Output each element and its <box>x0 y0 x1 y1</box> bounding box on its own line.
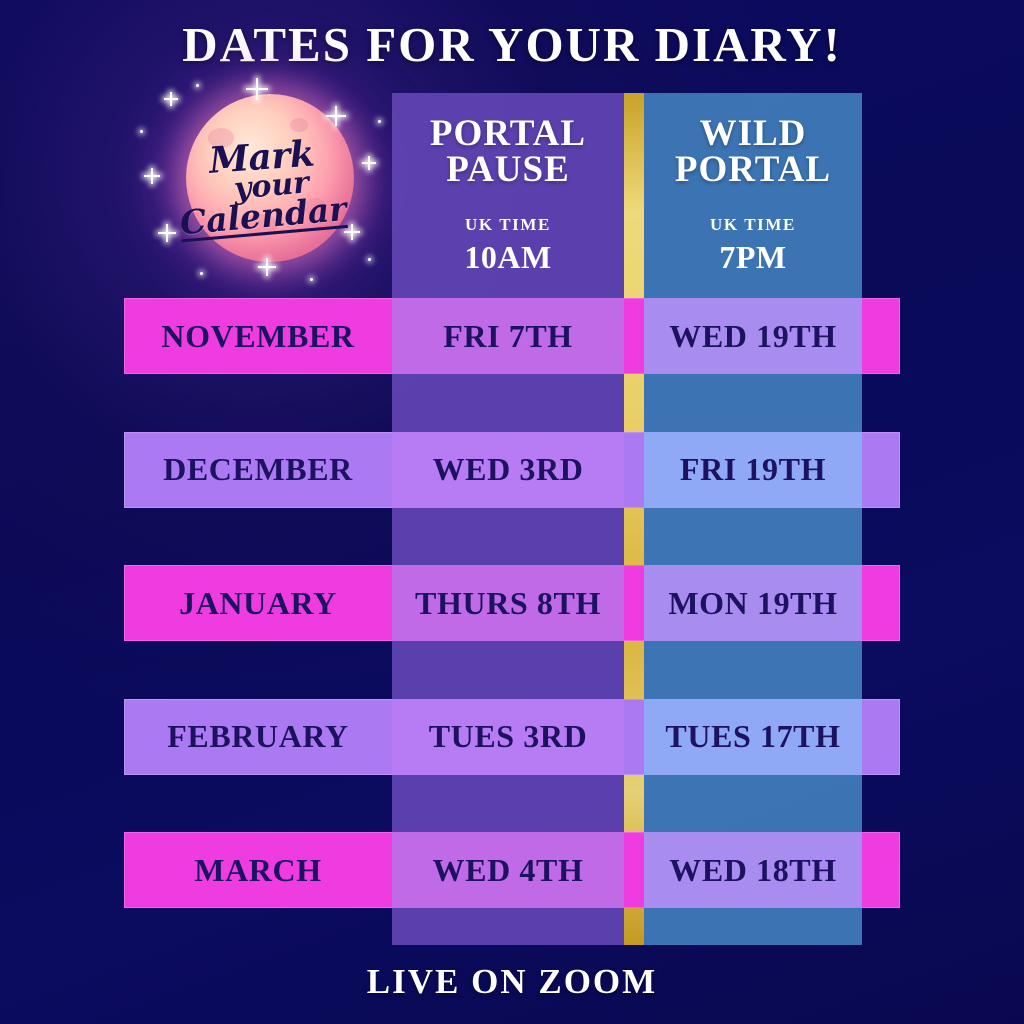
cell-month: FEBRUARY <box>124 699 392 775</box>
table-row[interactable]: FEBRUARYTUES 3RDTUES 17TH <box>124 699 900 775</box>
cell-month: DECEMBER <box>124 432 392 508</box>
cell-month: JANUARY <box>124 565 392 641</box>
cell-month: NOVEMBER <box>124 298 392 374</box>
column-title-line-1: WILD <box>644 116 862 152</box>
column-title-line-2: PAUSE <box>392 152 624 188</box>
cell-portal-pause: WED 4TH <box>392 832 624 908</box>
cell-portal-pause: TUES 3RD <box>392 699 624 775</box>
column-title-line-2: PORTAL <box>644 152 862 188</box>
column-time-wild-portal: 7PM <box>644 239 862 276</box>
gold-divider <box>624 93 644 945</box>
column-header-wild-portal: WILD PORTAL UK TIME 7PM <box>644 93 862 276</box>
table-row[interactable]: NOVEMBERFRI 7THWED 19TH <box>124 298 900 374</box>
cell-wild-portal: WED 18TH <box>644 832 862 908</box>
table-row[interactable]: DECEMBERWED 3RDFRI 19TH <box>124 432 900 508</box>
table-row[interactable]: MARCHWED 4THWED 18TH <box>124 832 900 908</box>
badge-script-text: Mark your Calendar <box>130 72 402 304</box>
cell-portal-pause: THURS 8TH <box>392 565 624 641</box>
column-title-portal-pause: PORTAL PAUSE <box>392 116 624 189</box>
column-timezone-wild-portal: UK TIME <box>644 215 862 235</box>
cell-portal-pause: WED 3RD <box>392 432 624 508</box>
table-row[interactable]: JANUARYTHURS 8THMON 19TH <box>124 565 900 641</box>
page-title: DATES FOR YOUR DIARY! <box>0 16 1024 73</box>
cell-wild-portal: WED 19TH <box>644 298 862 374</box>
column-portal-pause[interactable]: PORTAL PAUSE UK TIME 10AM <box>392 93 624 945</box>
column-title-wild-portal: WILD PORTAL <box>644 116 862 189</box>
badge-line-3: Calendar <box>179 192 348 241</box>
cell-wild-portal: FRI 19TH <box>644 432 862 508</box>
column-title-line-1: PORTAL <box>392 116 624 152</box>
diary-dates-poster: DATES FOR YOUR DIARY! Mark your Calendar <box>0 0 1024 1024</box>
cell-portal-pause: FRI 7TH <box>392 298 624 374</box>
cell-wild-portal: TUES 17TH <box>644 699 862 775</box>
column-time-portal-pause: 10AM <box>392 239 624 276</box>
cell-month: MARCH <box>124 832 392 908</box>
column-header-portal-pause: PORTAL PAUSE UK TIME 10AM <box>392 93 624 276</box>
cell-wild-portal: MON 19TH <box>644 565 862 641</box>
column-wild-portal[interactable]: WILD PORTAL UK TIME 7PM <box>644 93 862 945</box>
footer-live-on-zoom: LIVE ON ZOOM <box>0 962 1024 1002</box>
mark-your-calendar-badge: Mark your Calendar <box>130 72 402 304</box>
column-timezone-portal-pause: UK TIME <box>392 215 624 235</box>
